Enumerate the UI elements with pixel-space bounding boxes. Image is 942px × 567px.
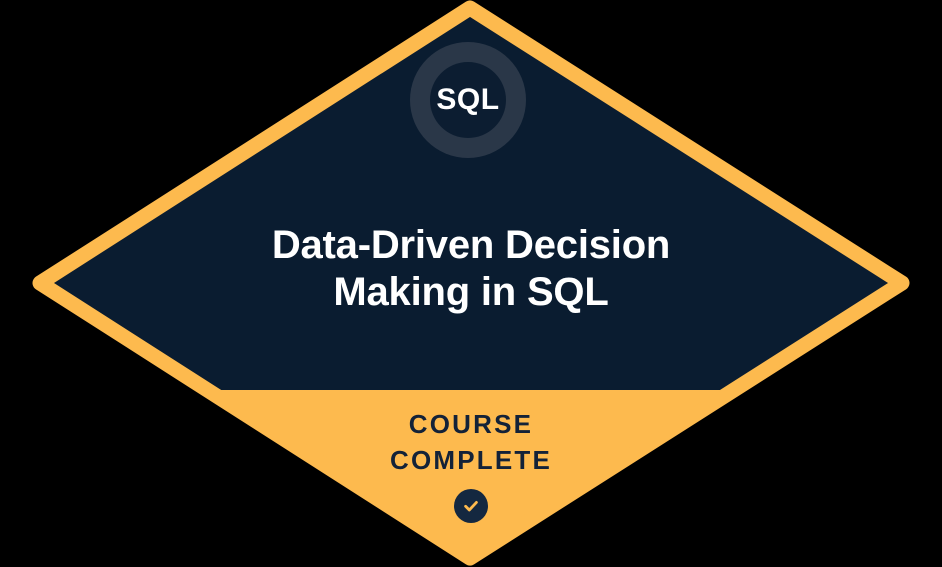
badge-fill-navy	[0, 0, 942, 390]
badge-shape	[0, 0, 942, 567]
badge-fill-orange	[0, 390, 942, 567]
badge-fill	[0, 0, 942, 567]
course-completion-badge: SQL Data-Driven Decision Making in SQL C…	[0, 0, 942, 567]
